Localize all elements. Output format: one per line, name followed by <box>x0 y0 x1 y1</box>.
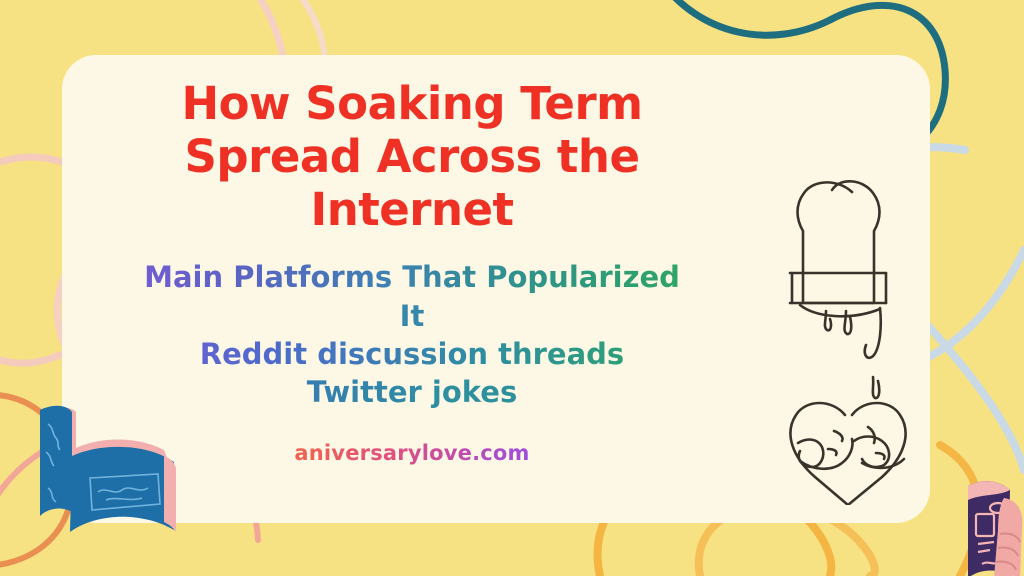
dripping-heart-icon <box>790 181 886 398</box>
subtitle-line-4: Twitter jokes <box>102 373 722 411</box>
headline-line-2: Spread Across the <box>185 130 640 183</box>
splashing-heart-icon <box>790 403 905 505</box>
subtitle-line-2: It <box>102 297 722 335</box>
poster-canvas: How Soaking Term Spread Across the Inter… <box>0 0 1024 576</box>
subtitle-line-3: Reddit discussion threads <box>102 335 722 373</box>
headline-line-3: Internet <box>310 183 513 236</box>
poster-content: How Soaking Term Spread Across the Inter… <box>62 55 762 523</box>
subtitle-block: Main Platforms That Popularized It Reddi… <box>102 258 722 411</box>
hearts-illustration <box>770 175 930 505</box>
headline-line-1: How Soaking Term <box>181 77 642 130</box>
hand-holding-book-icon <box>938 478 1024 576</box>
footer-url[interactable]: aniversarylove.com <box>294 441 529 465</box>
page-title: How Soaking Term Spread Across the Inter… <box>132 77 692 236</box>
subtitle-line-1: Main Platforms That Popularized <box>102 258 722 296</box>
